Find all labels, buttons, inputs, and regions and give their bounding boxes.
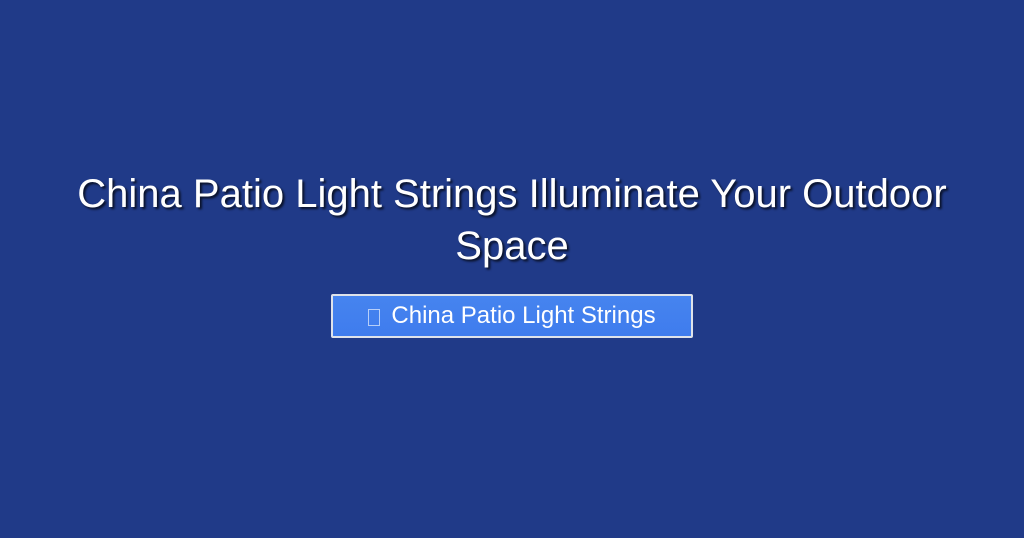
china-patio-light-strings-button[interactable]: China Patio Light Strings — [331, 294, 693, 338]
page-root: China Patio Light Strings Illuminate You… — [0, 0, 1024, 538]
tofu-missing-glyph-box-icon — [368, 309, 380, 326]
hero-section: China Patio Light Strings Illuminate You… — [0, 0, 1024, 538]
page-title: China Patio Light Strings Illuminate You… — [52, 168, 972, 272]
cta-button-label: China Patio Light Strings — [391, 304, 655, 328]
cta-container: China Patio Light Strings — [48, 294, 976, 338]
